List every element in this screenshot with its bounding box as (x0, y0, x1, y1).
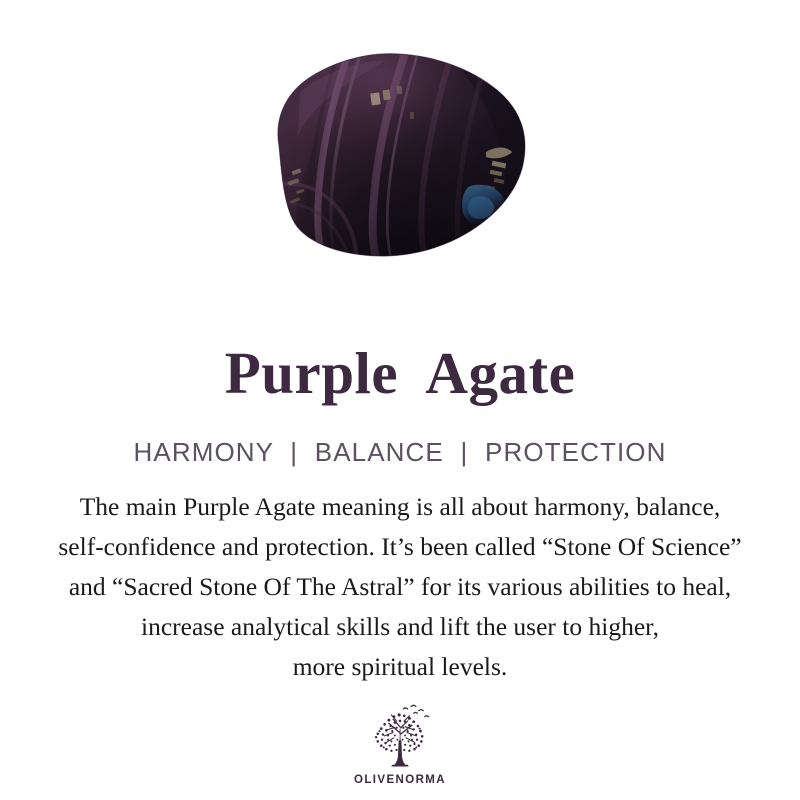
keyword-subtitle: HARMONY | BALANCE | PROTECTION (134, 439, 667, 465)
description-line: self-confidence and protection. It’s bee… (20, 527, 780, 567)
page-title: Purple Agate (225, 344, 576, 403)
description-line: increase analytical skills and lift the … (20, 607, 780, 647)
brand-logo: OLIVENORMA (0, 703, 800, 786)
purple-agate-stone-icon (0, 0, 800, 300)
description-line: The main Purple Agate meaning is all abo… (20, 487, 780, 527)
description-paragraph: The main Purple Agate meaning is all abo… (20, 487, 780, 687)
description-line: more spiritual levels. (20, 647, 780, 687)
brand-name: OLIVENORMA (354, 774, 446, 786)
stone-body (260, 40, 560, 275)
birds-icon (403, 705, 428, 716)
purple-agate-info-card: Purple Agate HARMONY | BALANCE | PROTECT… (0, 0, 800, 800)
olive-tree-icon (357, 703, 443, 773)
gemstone-image (0, 0, 800, 300)
description-line: and “Sacred Stone Of The Astral” for its… (20, 567, 780, 607)
